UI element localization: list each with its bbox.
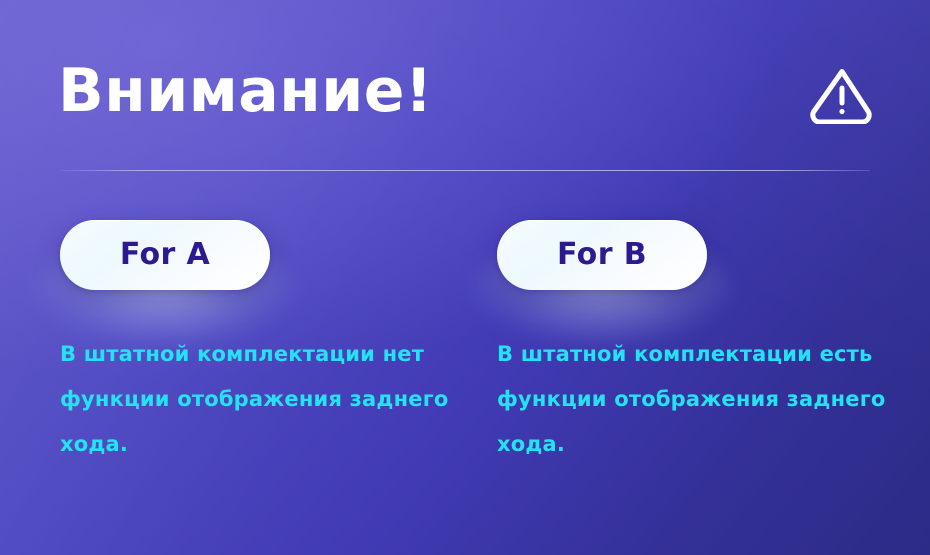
pill-label-b: For B bbox=[557, 240, 647, 270]
comparison-columns: For A В штатной комплектации нет функции… bbox=[0, 0, 930, 555]
pill-wrapper-a: For A bbox=[60, 220, 270, 290]
pill-wrapper-b: For B bbox=[497, 220, 707, 290]
pill-button-for-b[interactable]: For B bbox=[497, 220, 707, 290]
warning-slide: Внимание! For A В штатной комплектации н… bbox=[0, 0, 930, 555]
description-text-a: В штатной комплектации нет функции отобр… bbox=[60, 332, 450, 467]
pill-label-a: For A bbox=[120, 240, 210, 270]
column-for-a: For A В штатной комплектации нет функции… bbox=[60, 220, 460, 290]
column-for-b: For B В штатной комплектации есть функци… bbox=[497, 220, 897, 290]
pill-button-for-a[interactable]: For A bbox=[60, 220, 270, 290]
description-text-b: В штатной комплектации есть функции отоб… bbox=[497, 332, 889, 467]
